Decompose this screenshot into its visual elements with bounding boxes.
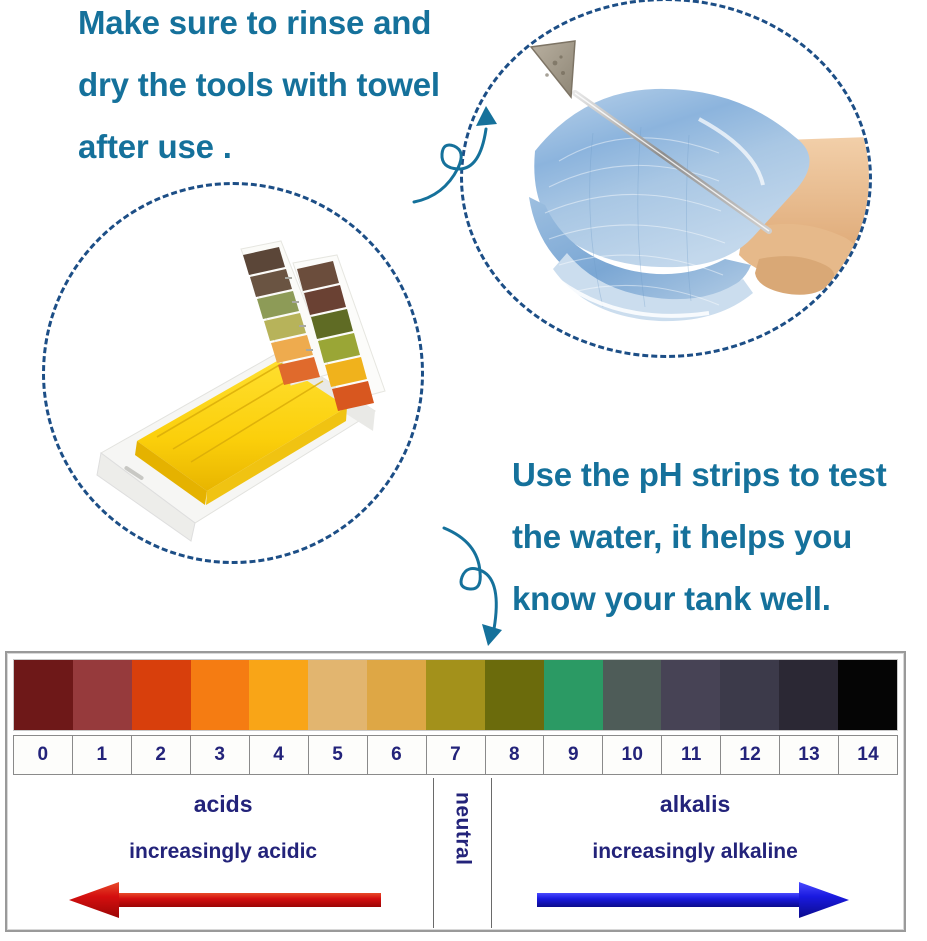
- ph-band-neutral-title: neutral: [451, 792, 475, 866]
- ph-band-alkalis-title: alkalis: [660, 791, 730, 818]
- ph-band-neutral: neutral: [434, 778, 492, 928]
- ph-swatch-1: [73, 660, 132, 730]
- ph-number-13: 13: [780, 736, 839, 774]
- ph-number-6: 6: [368, 736, 427, 774]
- ph-swatch-14: [838, 660, 897, 730]
- ph-scale-chart: 01234567891011121314 acids increasingly …: [5, 651, 906, 932]
- ph-swatch-3: [191, 660, 250, 730]
- ph-band-acids-title: acids: [194, 791, 253, 818]
- ph-swatch-8: [485, 660, 544, 730]
- curved-arrow-down-icon: [424, 512, 540, 652]
- arrow-right-blue-icon: [535, 880, 855, 920]
- ph-number-14: 14: [839, 736, 897, 774]
- ph-number-3: 3: [191, 736, 250, 774]
- ph-swatch-10: [603, 660, 662, 730]
- acid-arrow-wrap: [63, 880, 383, 925]
- ph-number-10: 10: [603, 736, 662, 774]
- photo-towel-dashed-border: [460, 0, 872, 358]
- ph-band-alkalis-subtitle: increasingly alkaline: [592, 840, 797, 864]
- ph-number-9: 9: [544, 736, 603, 774]
- ph-swatch-5: [308, 660, 367, 730]
- ph-band-alkalis: alkalis increasingly alkaline: [492, 778, 898, 928]
- ph-swatch-0: [14, 660, 73, 730]
- ph-number-4: 4: [250, 736, 309, 774]
- ph-band-acids-subtitle: increasingly acidic: [129, 840, 317, 864]
- ph-number-11: 11: [662, 736, 721, 774]
- ph-swatch-6: [367, 660, 426, 730]
- ph-band-acids: acids increasingly acidic: [13, 778, 434, 928]
- ph-number-2: 2: [132, 736, 191, 774]
- ph-swatch-2: [132, 660, 191, 730]
- curved-arrow-up-icon: [396, 78, 506, 206]
- ph-swatch-11: [661, 660, 720, 730]
- ph-swatch-4: [249, 660, 308, 730]
- alkali-arrow-wrap: [535, 880, 855, 925]
- ph-band-row: acids increasingly acidic: [13, 778, 898, 928]
- ph-number-0: 0: [14, 736, 73, 774]
- ph-number-1: 1: [73, 736, 132, 774]
- arrow-left-red-icon: [63, 880, 383, 920]
- ph-number-row: 01234567891011121314: [13, 735, 898, 775]
- ph-number-5: 5: [309, 736, 368, 774]
- ph-swatch-13: [779, 660, 838, 730]
- ph-number-7: 7: [427, 736, 486, 774]
- photo-strips-dashed-border: [42, 182, 424, 564]
- instruction-use-ph-strips: Use the pH strips to test the water, it …: [512, 444, 927, 630]
- ph-swatch-7: [426, 660, 485, 730]
- page-root: Make sure to rinse and dry the tools wit…: [0, 0, 927, 941]
- ph-color-swatch-row: [13, 659, 898, 731]
- ph-swatch-12: [720, 660, 779, 730]
- ph-number-8: 8: [486, 736, 545, 774]
- ph-number-12: 12: [721, 736, 780, 774]
- ph-swatch-9: [544, 660, 603, 730]
